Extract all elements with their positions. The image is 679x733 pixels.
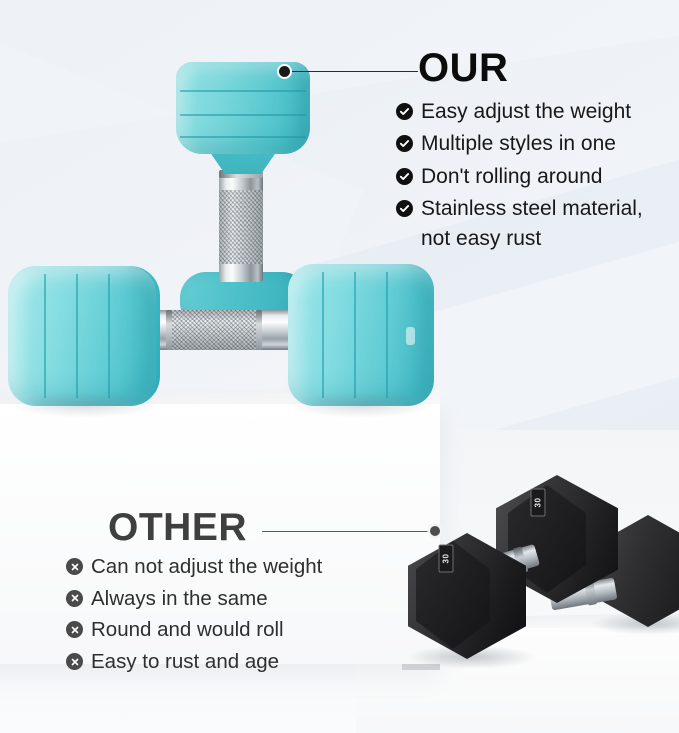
- our-leader-dot: [279, 66, 290, 77]
- list-item: Can not adjust the weight: [66, 553, 396, 581]
- check-circle-icon: [396, 200, 413, 217]
- check-circle-icon: [396, 103, 413, 120]
- plate-groove: [44, 274, 46, 398]
- other-leader-dot: [430, 526, 440, 536]
- feature-text: Round and would roll: [91, 616, 284, 644]
- vertical-dumbbell-head: [176, 62, 310, 154]
- plate-groove: [108, 274, 110, 398]
- x-circle-icon: [66, 621, 83, 638]
- other-feature-list: Can not adjust the weight Always in the …: [66, 553, 396, 676]
- plate-groove: [322, 272, 324, 398]
- list-item: Stainless steel material,: [396, 195, 679, 223]
- list-item: Easy adjust the weight: [396, 98, 679, 126]
- list-item: Multiple styles in one: [396, 130, 679, 158]
- feature-text: Don't rolling around: [421, 163, 602, 191]
- product-comparison-graphic: 30 30 OUR Easy adjust the weight Multipl…: [0, 0, 679, 733]
- feature-text: Can not adjust the weight: [91, 553, 322, 581]
- list-item: Always in the same: [66, 585, 396, 613]
- our-heading: OUR: [418, 48, 679, 88]
- feature-text: Stainless steel material,: [421, 195, 643, 223]
- our-callout-panel: OUR Easy adjust the weight Multiple styl…: [396, 48, 679, 254]
- horizontal-handle-knurling: [172, 310, 256, 350]
- handle-collar: [256, 310, 262, 350]
- vertical-handle-knurling: [219, 190, 263, 264]
- x-circle-icon: [66, 590, 83, 607]
- x-circle-icon: [66, 653, 83, 670]
- hex-weight-label: 30: [531, 489, 546, 517]
- list-item: Easy to rust and age: [66, 648, 396, 676]
- plate-groove: [180, 136, 306, 138]
- plate-groove: [354, 272, 356, 398]
- plate-groove: [76, 274, 78, 398]
- plate-groove: [386, 272, 388, 398]
- feature-text-continuation: not easy rust: [421, 225, 679, 253]
- left-weight-plate: [8, 266, 156, 406]
- other-heading: OTHER: [108, 508, 396, 547]
- feature-text: Easy to rust and age: [91, 648, 279, 676]
- hex-weight-label: 30: [439, 545, 454, 573]
- feature-text: Multiple styles in one: [421, 130, 616, 158]
- feature-text: Easy adjust the weight: [421, 98, 631, 126]
- list-item: Don't rolling around: [396, 163, 679, 191]
- feature-text: Always in the same: [91, 585, 268, 613]
- check-circle-icon: [396, 135, 413, 152]
- other-callout-panel: OTHER Can not adjust the weight Always i…: [66, 508, 396, 680]
- contact-shadow: [10, 392, 160, 418]
- plate-logo: [406, 327, 415, 345]
- plate-groove: [180, 114, 306, 116]
- contact-shadow: [286, 392, 436, 418]
- x-circle-icon: [66, 558, 83, 575]
- plate-groove: [180, 90, 306, 92]
- check-circle-icon: [396, 168, 413, 185]
- handle-collar: [166, 310, 172, 350]
- black-hex-dumbbells: 30 30: [400, 455, 679, 675]
- our-feature-list: Easy adjust the weight Multiple styles i…: [396, 98, 679, 223]
- list-item: Round and would roll: [66, 616, 396, 644]
